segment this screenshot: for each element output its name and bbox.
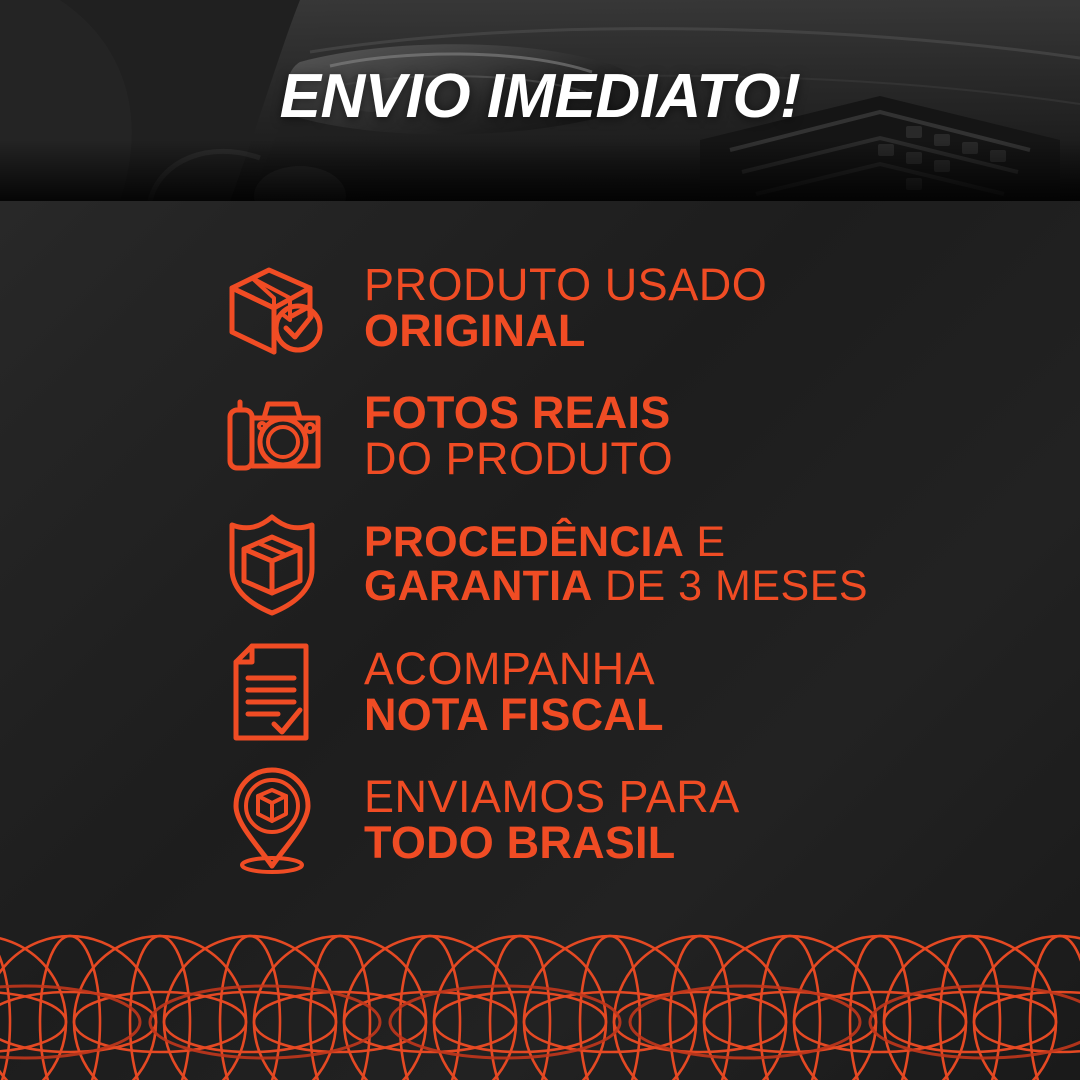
invoice-document-check-icon [222,638,332,746]
promo-banner-page: ENVIO IMEDIATO! [0,0,1080,1080]
feature-row-produto-original: PRODUTO USADO ORIGINAL [222,244,1080,372]
feature-line-2: TODO BRASIL [364,820,740,866]
feature-list: PRODUTO USADO ORIGINAL [222,244,1080,884]
feature-line-1-light: E [684,518,726,566]
feature-row-todo-brasil: ENVIAMOS PARA TODO BRASIL [222,756,1080,884]
feature-line-2-light: DE 3 MESES [593,562,869,610]
feature-line-1: PRODUTO USADO [364,262,767,308]
map-pin-box-icon [222,766,332,874]
overlapping-circles-geometric-border [0,930,1080,1080]
feature-row-fotos-reais: FOTOS REAIS DO PRODUTO [222,372,1080,500]
feature-text-procedencia-garantia: PROCEDÊNCIA E GARANTIA DE 3 MESES [364,520,868,609]
feature-line-1-bold: PROCEDÊNCIA [364,518,684,566]
feature-line-1: FOTOS REAIS [364,390,673,436]
feature-text-nota-fiscal: ACOMPANHA NOTA FISCAL [364,646,664,739]
feature-line-2: NOTA FISCAL [364,692,664,738]
feature-row-nota-fiscal: ACOMPANHA NOTA FISCAL [222,628,1080,756]
package-box-check-icon [222,254,332,362]
header-banner: ENVIO IMEDIATO! [0,0,1080,201]
feature-text-fotos-reais: FOTOS REAIS DO PRODUTO [364,390,673,483]
feature-text-produto-original: PRODUTO USADO ORIGINAL [364,262,767,355]
feature-line-1: ENVIAMOS PARA [364,774,740,820]
feature-line-1: PROCEDÊNCIA E [364,520,868,564]
feature-line-2: GARANTIA DE 3 MESES [364,564,868,608]
feature-text-todo-brasil: ENVIAMOS PARA TODO BRASIL [364,774,740,867]
page-title: ENVIO IMEDIATO! [0,66,1080,128]
feature-line-2: DO PRODUTO [364,436,673,482]
footer-decoration [0,930,1080,1080]
feature-row-procedencia-garantia: PROCEDÊNCIA E GARANTIA DE 3 MESES [222,500,1080,628]
feature-line-2-bold: GARANTIA [364,562,593,610]
feature-line-1: ACOMPANHA [364,646,664,692]
feature-line-2: ORIGINAL [364,308,767,354]
camera-icon [222,382,332,490]
shield-box-icon [222,510,332,618]
